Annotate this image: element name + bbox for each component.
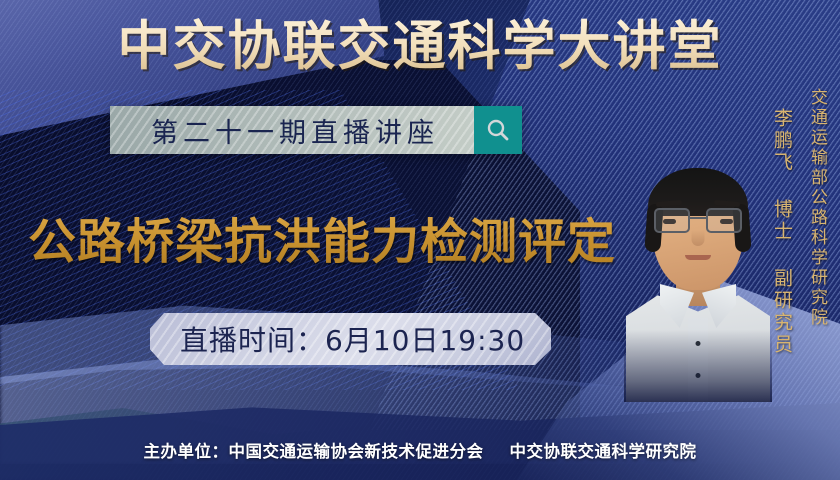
shirt-button-bottom — [696, 373, 701, 378]
speaker-organization: 交通运输部公路科学研究院 — [805, 88, 830, 328]
search-button[interactable] — [474, 106, 522, 154]
organizer-label: 主办单位： — [144, 442, 229, 461]
lecture-headline: 公路桥梁抗洪能力检测评定 — [28, 202, 616, 272]
speaker-name-title: 李鹏飞 博士 副研究员 — [769, 108, 796, 356]
shirt-placket — [688, 318, 708, 402]
page-title: 中交协联交通科学大讲堂 — [0, 16, 840, 77]
live-lecture-poster: 中交协联交通科学大讲堂 第二十一期直播讲座 公路桥梁抗洪能力检测评定 直播时间：… — [0, 0, 840, 480]
session-bar: 第二十一期直播讲座 — [110, 106, 522, 154]
session-bar-body: 第二十一期直播讲座 — [110, 106, 474, 154]
organizer-name-1: 中国交通运输协会新技术促进分会 — [229, 442, 484, 461]
search-icon — [485, 117, 511, 143]
footer-organizers: 主办单位：中国交通运输协会新技术促进分会中交协联交通科学研究院 — [0, 438, 840, 462]
glasses-lens-left — [654, 208, 690, 233]
shirt-button-top — [696, 341, 701, 346]
live-time-label: 直播时间：6月10日19:30 — [180, 319, 525, 359]
speaker-photo — [624, 144, 772, 402]
glasses-bridge — [690, 217, 706, 219]
session-label: 第二十一期直播讲座 — [145, 111, 439, 150]
organizer-name-2: 中交协联交通科学研究院 — [510, 442, 697, 461]
mouth — [685, 255, 711, 260]
live-time-badge: 直播时间：6月10日19:30 — [150, 313, 551, 365]
nose — [692, 230, 705, 246]
glasses-lens-right — [706, 208, 742, 233]
